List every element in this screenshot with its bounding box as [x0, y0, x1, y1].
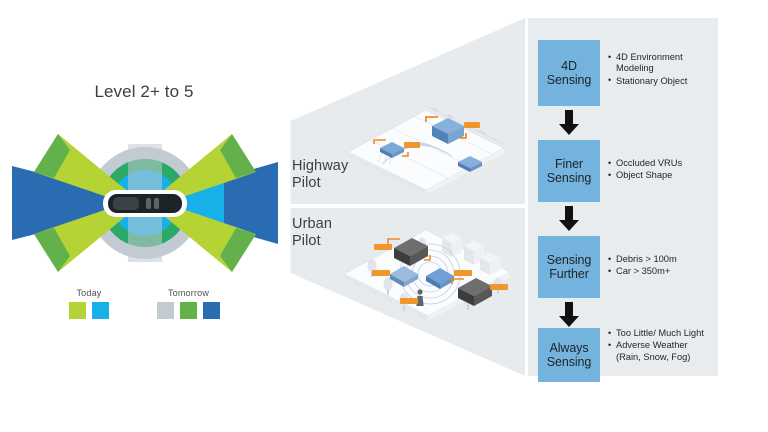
- chip-line-1: 4D: [561, 59, 577, 73]
- vehicle-sensor-coverage-icon: [10, 128, 280, 278]
- legend: Today Tomorrow: [55, 288, 270, 328]
- flow-arrow-down-icon: [556, 302, 572, 328]
- chip-line-2: Sensing: [547, 355, 591, 369]
- chip-line-1: Finer: [555, 157, 583, 171]
- chip-4d-sensing[interactable]: 4D Sensing: [538, 40, 600, 106]
- legend-label-tomorrow: Tomorrow: [157, 288, 220, 298]
- funnel-shape: [289, 18, 525, 376]
- legend-swatch: [69, 302, 86, 319]
- flow-step-4d-sensing: 4D Sensing 4D Environment Modeling Stati…: [538, 40, 712, 106]
- bullet-list-sensing-further: Debris > 100m Car > 350m+: [608, 254, 712, 279]
- bullet-item: Car > 350m+: [608, 266, 712, 277]
- legend-group-today: Today: [69, 288, 109, 319]
- urban-pilot-label: Urban Pilot: [292, 216, 332, 250]
- legend-label-today: Today: [69, 288, 109, 298]
- bullet-item: Too Little/ Much Light: [608, 328, 712, 339]
- highway-isometric-scene: [340, 96, 510, 192]
- bullet-list-always-sensing: Too Little/ Much Light Adverse Weather (…: [608, 328, 712, 364]
- funnel-divider: [290, 204, 525, 208]
- chip-line-2: Sensing: [547, 73, 591, 87]
- chip-line-1: Always: [549, 341, 588, 355]
- chip-line-1: Sensing: [547, 253, 591, 267]
- diagram-canvas: Level 2+ to 5: [0, 0, 768, 432]
- flow-arrow-down-icon: [556, 206, 572, 232]
- page-title: Level 2+ to 5: [0, 82, 288, 102]
- flow-step-finer-sensing: Finer Sensing Occluded VRUs Object Shape: [538, 140, 712, 202]
- flow-step-sensing-further: Sensing Further Debris > 100m Car > 350m…: [538, 236, 712, 298]
- bullet-list-4d-sensing: 4D Environment Modeling Stationary Objec…: [608, 52, 712, 88]
- flow-arrow-down-icon: [556, 110, 572, 136]
- legend-swatch: [203, 302, 220, 319]
- bullet-item: Object Shape: [608, 170, 712, 181]
- pilot-funnel-panel: [289, 18, 525, 376]
- bullet-item: Stationary Object: [608, 76, 712, 87]
- legend-swatch: [157, 302, 174, 319]
- bullet-list-finer-sensing: Occluded VRUs Object Shape: [608, 158, 712, 183]
- bullet-item: Debris > 100m: [608, 254, 712, 265]
- chip-finer-sensing[interactable]: Finer Sensing: [538, 140, 600, 202]
- legend-group-tomorrow: Tomorrow: [157, 288, 220, 319]
- sensing-requirements-panel: 4D Sensing 4D Environment Modeling Stati…: [528, 18, 718, 376]
- chip-sensing-further[interactable]: Sensing Further: [538, 236, 600, 298]
- bullet-item: Adverse Weather (Rain, Snow, Fog): [608, 340, 712, 363]
- legend-swatch: [92, 302, 109, 319]
- flow-step-always-sensing: Always Sensing Too Little/ Much Light Ad…: [538, 328, 712, 382]
- bullet-item: 4D Environment Modeling: [608, 52, 712, 75]
- legend-swatch: [180, 302, 197, 319]
- chip-line-2: Further: [549, 267, 589, 281]
- urban-isometric-scene: [338, 212, 518, 322]
- bullet-item: Occluded VRUs: [608, 158, 712, 169]
- chip-always-sensing[interactable]: Always Sensing: [538, 328, 600, 382]
- chip-line-2: Sensing: [547, 171, 591, 185]
